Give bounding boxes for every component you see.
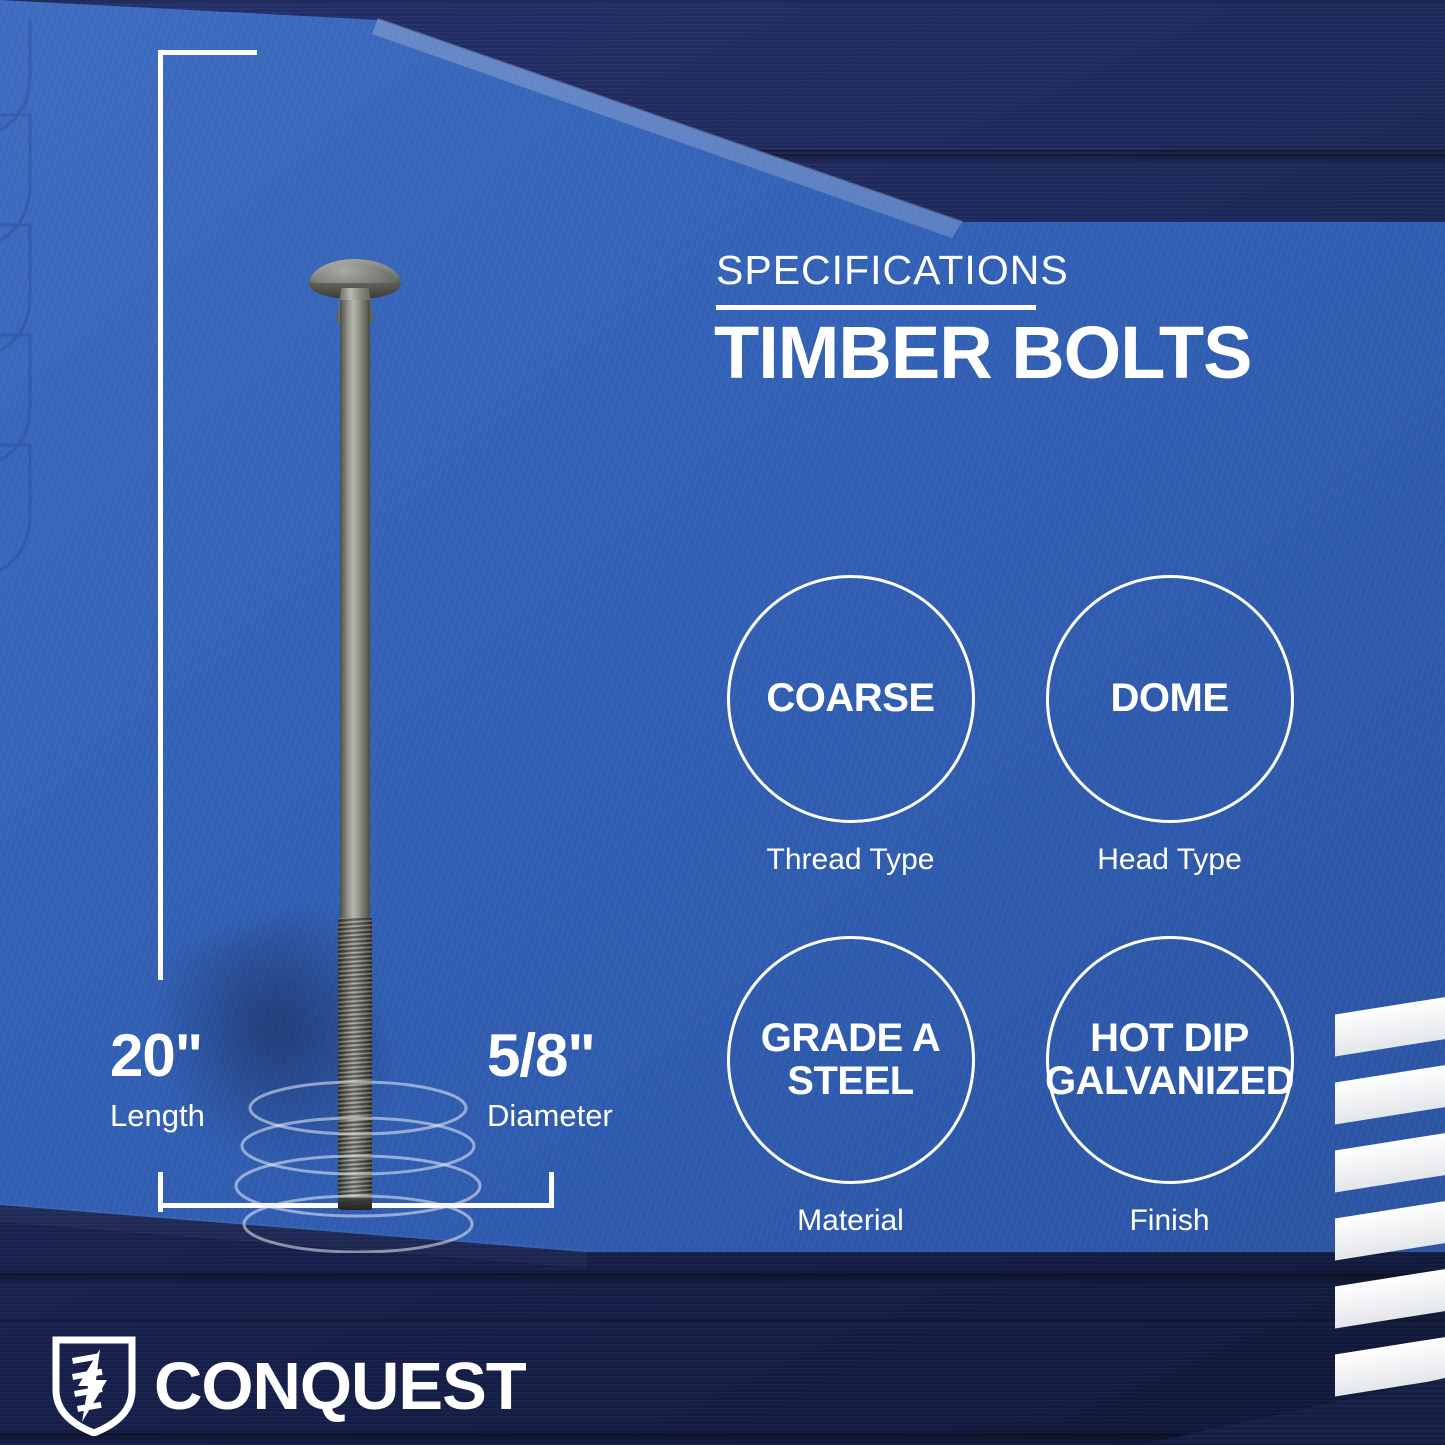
spec-grid: COARSE Thread Type DOME Head Type GRADE … — [700, 575, 1320, 1275]
shield-bolt-icon — [52, 1336, 136, 1436]
spec-value-thread-type: COARSE — [758, 677, 942, 720]
specifications-kicker: SPECIFICATIONS — [716, 250, 1069, 291]
spec-item-finish: HOT DIP GALVANIZED Finish — [1019, 936, 1320, 1275]
spec-caption-thread-type: Thread Type — [767, 845, 935, 875]
spec-caption-finish: Finish — [1129, 1206, 1209, 1236]
diameter-value: 5/8" — [487, 1026, 595, 1086]
length-bracket-top-tick — [158, 50, 257, 55]
shield-watermark-icon — [0, 20, 80, 580]
thread-helix-icon — [228, 1078, 488, 1253]
spec-caption-material: Material — [797, 1206, 904, 1236]
spec-circle-thread-type: COARSE — [727, 575, 975, 823]
spec-circle-finish: HOT DIP GALVANIZED — [1046, 936, 1294, 1184]
infographic-canvas: 20" Length 5/8" Diameter SPECIFICATIONS … — [0, 0, 1445, 1445]
spec-caption-head-type: Head Type — [1097, 845, 1242, 875]
brand-logo[interactable]: CONQUEST — [52, 1336, 526, 1436]
length-bracket-vertical-upper — [158, 50, 163, 980]
length-label: Length — [110, 1100, 205, 1131]
spec-item-head-type: DOME Head Type — [1019, 575, 1320, 914]
bolt-shank — [340, 300, 370, 925]
decorative-stripes — [1340, 995, 1445, 1405]
spec-value-head-type: DOME — [1103, 677, 1237, 720]
spec-item-material: GRADE A STEEL Material — [700, 936, 1001, 1275]
diameter-bracket-right-tick — [549, 1172, 554, 1208]
spec-value-material: GRADE A STEEL — [730, 1017, 972, 1103]
diameter-label: Diameter — [487, 1100, 613, 1131]
page-title: TIMBER BOLTS — [714, 313, 1251, 393]
spec-circle-material: GRADE A STEEL — [727, 936, 975, 1184]
brand-wordmark: CONQUEST — [154, 1353, 526, 1420]
spec-item-thread-type: COARSE Thread Type — [700, 575, 1001, 914]
spec-value-finish: HOT DIP GALVANIZED — [1037, 1017, 1302, 1103]
length-value: 20" — [110, 1026, 202, 1086]
header-divider — [716, 305, 1036, 310]
spec-circle-head-type: DOME — [1046, 575, 1294, 823]
